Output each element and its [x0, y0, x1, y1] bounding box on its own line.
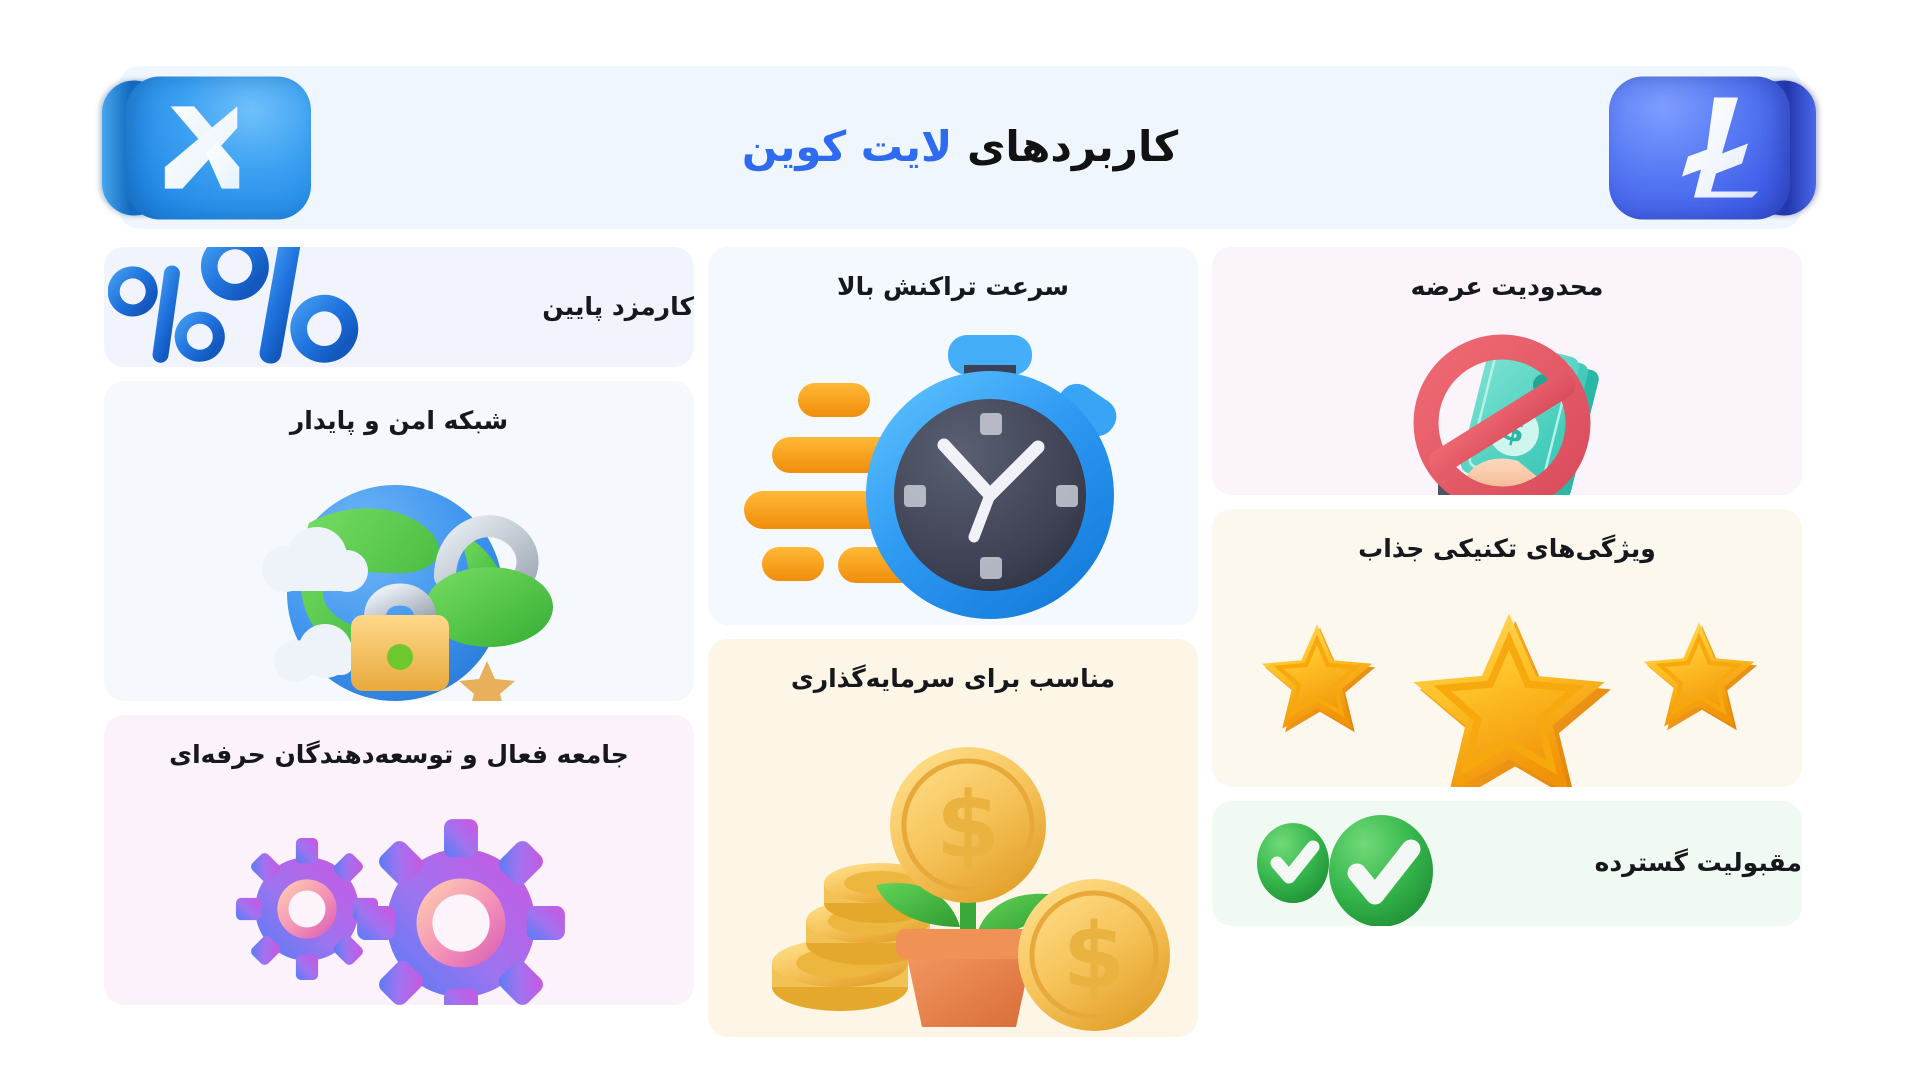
card-low-fee[interactable]: کارمزد پایین	[104, 247, 694, 367]
column-right: محدودیت عرضه	[1212, 247, 1802, 1037]
litecoin-coin-icon	[1609, 76, 1824, 219]
stopwatch-speed-icon	[708, 305, 1198, 625]
green-checkmarks-icon	[1212, 801, 1491, 926]
column-middle: سرعت تراکنش بالا	[708, 247, 1198, 1037]
card-active-community-label: جامعه فعال و توسعه‌دهندگان حرفه‌ای	[104, 715, 694, 773]
coins-plant-growth-icon: $ $	[708, 697, 1198, 1037]
card-secure-network[interactable]: شبکه امن و پایدار	[104, 381, 694, 701]
header-banner: کاربردهای لایت کوین	[118, 66, 1802, 229]
gradient-gears-icon	[104, 773, 694, 1005]
card-limited-supply[interactable]: محدودیت عرضه	[1212, 247, 1802, 495]
svg-text:$: $	[1063, 904, 1126, 1009]
exchange-x-coin-icon	[96, 76, 311, 219]
card-fast-transactions[interactable]: سرعت تراکنش بالا	[708, 247, 1198, 625]
svg-text:$: $	[936, 772, 1000, 879]
card-fast-transactions-label: سرعت تراکنش بالا	[708, 247, 1198, 305]
card-wide-adoption[interactable]: مقبولیت گسترده	[1212, 801, 1802, 926]
gold-stars-icon	[1212, 567, 1802, 787]
card-low-fee-label: کارمزد پایین	[411, 289, 694, 325]
page-title: کاربردهای لایت کوین	[742, 120, 1178, 175]
features-grid: محدودیت عرضه	[118, 247, 1802, 1037]
no-cash-prohibited-icon: $	[1212, 305, 1802, 495]
percent-signs-icon	[104, 247, 383, 367]
page-title-accent: لایت کوین	[742, 122, 952, 171]
page-title-main: کاربردهای	[967, 122, 1178, 171]
globe-padlock-icon	[104, 439, 694, 701]
card-good-investment[interactable]: مناسب برای سرمایه‌گذاری	[708, 639, 1198, 1037]
card-wide-adoption-label: مقبولیت گسترده	[1519, 845, 1802, 881]
card-technical-features[interactable]: ویژگی‌های تکنیکی جذاب	[1212, 509, 1802, 787]
card-secure-network-label: شبکه امن و پایدار	[104, 381, 694, 439]
column-left: کارمزد پایین	[104, 247, 694, 1037]
card-limited-supply-label: محدودیت عرضه	[1212, 247, 1802, 305]
infographic-page: کاربردهای لایت کوین	[0, 0, 1920, 1080]
card-technical-features-label: ویژگی‌های تکنیکی جذاب	[1212, 509, 1802, 567]
litecoin-l-glyph	[1609, 76, 1824, 219]
card-good-investment-label: مناسب برای سرمایه‌گذاری	[708, 639, 1198, 697]
x-logo-glyph	[96, 76, 311, 219]
card-active-community[interactable]: جامعه فعال و توسعه‌دهندگان حرفه‌ای	[104, 715, 694, 1005]
